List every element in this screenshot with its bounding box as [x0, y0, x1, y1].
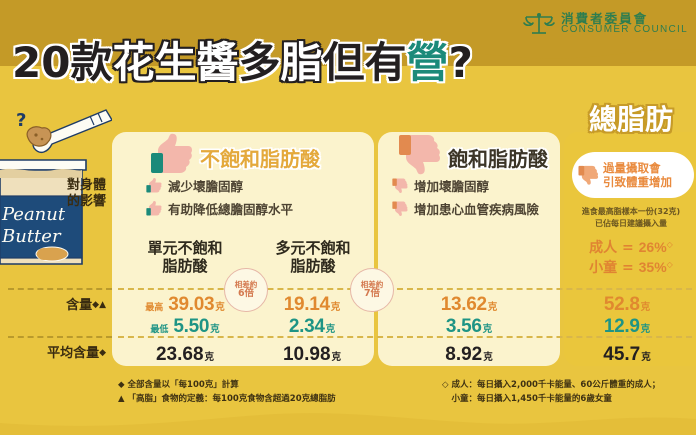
value-high: 13.62 — [441, 294, 487, 316]
footnote-symbol: ◆ — [118, 380, 125, 390]
ratio-badge-monounsaturated: 相差約 6倍 — [224, 268, 268, 312]
value-row-high: 52.8 克 — [564, 294, 690, 316]
saturated-panel-header: 飽和脂肪酸 — [398, 137, 548, 177]
footnote-text: 「高脂」食物的定義：每100克食物含超過20克總脂肪 — [128, 394, 336, 404]
footnotes-left: ◆全部含量以「每100克」計算 ▲「高脂」食物的定義：每100克食物含超過20克… — [118, 378, 336, 407]
ratio-value: 7倍 — [364, 289, 380, 299]
unit-label: 克 — [205, 352, 215, 363]
total-fat-note: 進食最高脂樣本一份(32克) 已佔每日建議攝入量 — [566, 206, 696, 229]
value-low: 12.9 — [604, 316, 640, 338]
value-low: 2.34 — [289, 316, 325, 338]
value-low: 5.50 — [173, 316, 209, 338]
title-part-7: ? — [449, 42, 473, 84]
thumbs-down-icon — [398, 131, 444, 177]
footnote-symbol: ▲ — [118, 394, 125, 404]
page-title: 20款花生醬多脂但有營? — [12, 42, 473, 84]
amount-marks: ◆▲ — [92, 300, 106, 310]
diamond-marker: ◇ — [667, 240, 673, 249]
thumbs-down-icon — [392, 200, 409, 217]
value-row-low: 2.34 克 — [250, 316, 374, 338]
title-part-6: 營 — [407, 42, 449, 84]
column-header-polyunsaturated: 多元不飽和 脂肪酸 — [252, 240, 374, 275]
list-item: 增加患心血管疾病風險 — [392, 199, 539, 218]
divider — [8, 336, 112, 338]
warning-line-2: 引致體重增加 — [603, 175, 672, 189]
consumer-council-logo: 消費者委員會 CONSUMER COUNCIL — [522, 9, 688, 39]
average-cell-saturated: 8.92克 — [378, 344, 560, 366]
amount-cell-total-fat: 52.8 克 12.9 克 — [564, 294, 690, 338]
label-low: 最低 — [150, 322, 168, 335]
ratio-value: 6倍 — [238, 289, 254, 299]
value-high: 52.8 — [604, 294, 640, 316]
row-label-body-effect: 對身體 的影響 — [67, 178, 106, 211]
balance-scale-icon — [522, 9, 556, 39]
average-cell-total-fat: 45.7克 — [564, 344, 690, 366]
thumbs-down-icon — [392, 177, 409, 194]
total-fat-intake-stats: 成人 = 26%◇ 小童 = 35%◇ — [566, 238, 696, 278]
footnote-item: ◇成人：每日攝入2,000千卡能量、60公斤體重的成人； — [442, 378, 660, 392]
bullet-text: 減少壞膽固醇 — [168, 176, 243, 195]
unit-label: 克 — [641, 321, 651, 335]
average-cell-polyunsaturated: 10.98克 — [250, 344, 374, 366]
total-fat-title: 總脂肪 — [566, 98, 696, 138]
child-intake-stat: 小童 = 35%◇ — [566, 258, 696, 278]
saturated-panel-title: 飽和脂肪酸 — [448, 143, 548, 172]
bullet-text: 有助降低總膽固醇水平 — [168, 199, 293, 218]
unit-label: 克 — [215, 299, 225, 313]
title-part-5: 但有 — [323, 42, 407, 84]
average-cell-monounsaturated: 23.68克 — [118, 344, 252, 366]
unsaturated-bullet-list: 減少壞膽固醇 有助降低總膽固醇水平 — [146, 176, 293, 222]
unit-label: 克 — [641, 352, 651, 363]
peanut-butter-blob — [27, 127, 51, 146]
question-mark-glyph: ? — [16, 110, 26, 131]
bottom-wave — [0, 405, 696, 435]
thumbs-up-icon — [146, 177, 163, 194]
divider — [118, 288, 692, 290]
value-row-low: 最低 5.50 克 — [118, 316, 252, 338]
row-label-average: 平均含量◆ — [47, 346, 106, 362]
ratio-badge-polyunsaturated: 相差約 7倍 — [350, 268, 394, 312]
row-label-column: 對身體 的影響 含量◆▲ 平均含量◆ — [0, 150, 110, 380]
unsaturated-panel-header: 不飽和脂肪酸 — [150, 137, 320, 177]
footnote-item: ◆全部含量以「每100克」計算 — [118, 378, 336, 392]
value-row-high: 13.62 克 — [378, 294, 560, 316]
list-item: 減少壞膽固醇 — [146, 176, 293, 195]
warning-line-1: 過量攝取會 — [603, 161, 672, 175]
column-header-monounsaturated: 單元不飽和 脂肪酸 — [122, 240, 248, 275]
unit-label: 克 — [483, 352, 493, 363]
unit-label: 克 — [488, 299, 498, 313]
unsaturated-panel-title: 不飽和脂肪酸 — [200, 143, 320, 172]
footnotes-right: ◇成人：每日攝入2,000千卡能量、60公斤體重的成人； ◇小童：每日攝入1,4… — [442, 378, 660, 407]
adult-intake-value: 26% — [639, 239, 667, 255]
value-low: 3.56 — [446, 316, 482, 338]
total-fat-warning-bubble: 過量攝取會 引致體重增加 — [572, 152, 694, 198]
unit-label: 克 — [483, 321, 493, 335]
average-marks: ◆ — [99, 348, 106, 358]
title-part-1: 20款 — [12, 42, 112, 84]
value-row-low: 3.56 克 — [378, 316, 560, 338]
title-part-2: 花生醬 — [112, 42, 238, 84]
title-part-4: 脂 — [280, 42, 322, 84]
value-row-low: 12.9 克 — [564, 316, 690, 338]
label-high: 最高 — [145, 300, 163, 313]
average-value: 10.98 — [283, 344, 331, 365]
average-value: 23.68 — [156, 344, 204, 365]
saturated-bullet-list: 增加壞膽固醇 增加患心血管疾病風險 — [392, 176, 539, 222]
diamond-marker: ◇ — [667, 260, 673, 269]
title-part-3: 多 — [238, 42, 280, 84]
unit-label: 克 — [641, 299, 651, 313]
infographic-poster: 消費者委員會 CONSUMER COUNCIL 20款花生醬多脂但有營? ? P… — [0, 0, 696, 435]
footnote-item: ▲「高脂」食物的定義：每100克食物含超過20克總脂肪 — [118, 392, 336, 406]
average-value: 45.7 — [603, 344, 640, 365]
footnote-text: 小童：每日攝入1,450千卡能量的6歲女童 — [452, 394, 612, 404]
logo-name-english: CONSUMER COUNCIL — [561, 25, 688, 36]
list-item: 增加壞膽固醇 — [392, 176, 539, 195]
value-high: 19.14 — [284, 294, 330, 316]
unit-label: 克 — [331, 299, 341, 313]
bullet-text: 增加壞膽固醇 — [414, 176, 489, 195]
amount-cell-saturated: 13.62 克 3.56 克 — [378, 294, 560, 338]
thumbs-up-icon — [150, 131, 196, 177]
footnote-text: 全部含量以「每100克」計算 — [128, 380, 239, 390]
list-item: 有助降低總膽固醇水平 — [146, 199, 293, 218]
footnote-text: 成人：每日攝入2,000千卡能量、60公斤體重的成人； — [452, 380, 661, 390]
unit-label: 克 — [326, 321, 336, 335]
footnote-item: ◇小童：每日攝入1,450千卡能量的6歲女童 — [442, 392, 660, 406]
bullet-text: 增加患心血管疾病風險 — [414, 199, 539, 218]
value-high: 39.03 — [168, 294, 214, 316]
thumbs-down-icon — [578, 164, 600, 186]
row-label-amount: 含量◆▲ — [66, 298, 106, 314]
divider — [118, 336, 692, 338]
unit-label: 克 — [210, 321, 220, 335]
footnote-symbol: ◇ — [442, 380, 449, 390]
average-value: 8.92 — [445, 344, 482, 365]
divider — [8, 288, 112, 290]
adult-intake-stat: 成人 = 26%◇ — [566, 238, 696, 258]
child-intake-value: 35% — [639, 259, 667, 275]
thumbs-up-icon — [146, 200, 163, 217]
unit-label: 克 — [332, 352, 342, 363]
